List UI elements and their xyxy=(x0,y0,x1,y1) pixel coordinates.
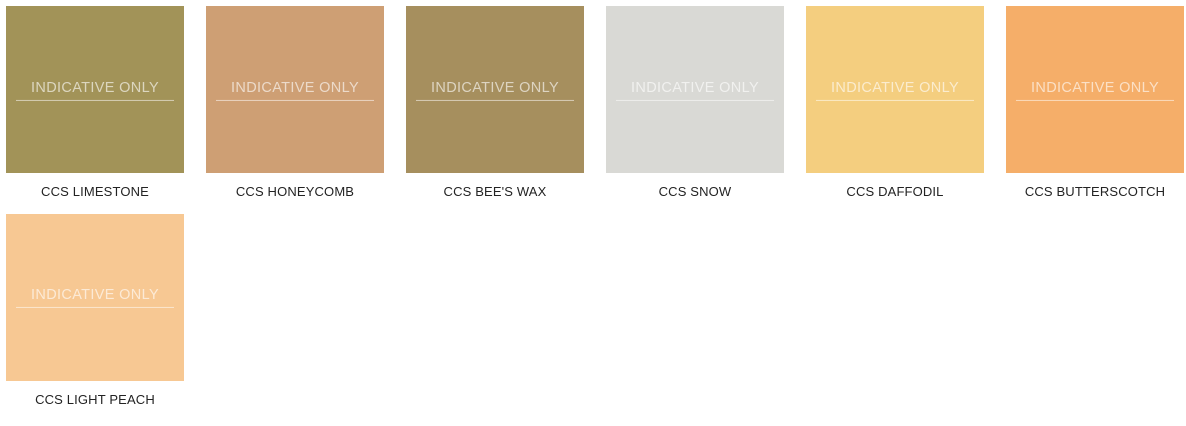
swatch-cell[interactable]: INDICATIVE ONLYCCS SNOW xyxy=(606,6,784,200)
swatch-cell[interactable]: INDICATIVE ONLYCCS BUTTERSCOTCH xyxy=(1006,6,1184,200)
watermark-underline-rule xyxy=(216,100,374,101)
swatch-label: CCS DAFFODIL xyxy=(806,184,984,200)
watermark-underline-rule xyxy=(416,100,574,101)
indicative-only-watermark: INDICATIVE ONLY xyxy=(6,78,184,100)
color-swatch-chip[interactable]: INDICATIVE ONLY xyxy=(206,6,384,173)
swatch-label: CCS HONEYCOMB xyxy=(206,184,384,200)
swatch-cell[interactable]: INDICATIVE ONLYCCS DAFFODIL xyxy=(806,6,984,200)
color-swatch-chip[interactable]: INDICATIVE ONLY xyxy=(6,214,184,381)
swatch-cell[interactable]: INDICATIVE ONLYCCS LIMESTONE xyxy=(6,6,184,200)
indicative-only-watermark: INDICATIVE ONLY xyxy=(206,78,384,100)
swatch-cell[interactable]: INDICATIVE ONLYCCS LIGHT PEACH xyxy=(6,214,184,408)
indicative-only-watermark: INDICATIVE ONLY xyxy=(606,78,784,100)
indicative-only-watermark: INDICATIVE ONLY xyxy=(806,78,984,100)
swatch-cell[interactable]: INDICATIVE ONLYCCS BEE'S WAX xyxy=(406,6,584,200)
watermark-underline-rule xyxy=(616,100,774,101)
swatch-cell[interactable]: INDICATIVE ONLYCCS HONEYCOMB xyxy=(206,6,384,200)
watermark-underline-rule xyxy=(16,100,174,101)
watermark-underline-rule xyxy=(816,100,974,101)
color-swatch-chip[interactable]: INDICATIVE ONLY xyxy=(806,6,984,173)
swatch-label: CCS BEE'S WAX xyxy=(406,184,584,200)
swatch-label: CCS SNOW xyxy=(606,184,784,200)
color-swatch-grid: INDICATIVE ONLYCCS LIMESTONEINDICATIVE O… xyxy=(0,0,1186,407)
watermark-text: INDICATIVE ONLY xyxy=(231,78,359,96)
color-swatch-chip[interactable]: INDICATIVE ONLY xyxy=(6,6,184,173)
watermark-text: INDICATIVE ONLY xyxy=(31,286,159,304)
swatch-label: CCS BUTTERSCOTCH xyxy=(1006,184,1184,200)
swatch-label: CCS LIMESTONE xyxy=(6,184,184,200)
swatch-label: CCS LIGHT PEACH xyxy=(6,392,184,408)
watermark-underline-rule xyxy=(1016,100,1174,101)
indicative-only-watermark: INDICATIVE ONLY xyxy=(1006,78,1184,100)
watermark-underline-rule xyxy=(16,307,174,308)
watermark-text: INDICATIVE ONLY xyxy=(1031,78,1159,96)
watermark-text: INDICATIVE ONLY xyxy=(431,78,559,96)
watermark-text: INDICATIVE ONLY xyxy=(31,78,159,96)
color-swatch-chip[interactable]: INDICATIVE ONLY xyxy=(1006,6,1184,173)
indicative-only-watermark: INDICATIVE ONLY xyxy=(6,286,184,308)
color-swatch-chip[interactable]: INDICATIVE ONLY xyxy=(606,6,784,173)
indicative-only-watermark: INDICATIVE ONLY xyxy=(406,78,584,100)
color-swatch-chip[interactable]: INDICATIVE ONLY xyxy=(406,6,584,173)
watermark-text: INDICATIVE ONLY xyxy=(831,78,959,96)
watermark-text: INDICATIVE ONLY xyxy=(631,78,759,96)
